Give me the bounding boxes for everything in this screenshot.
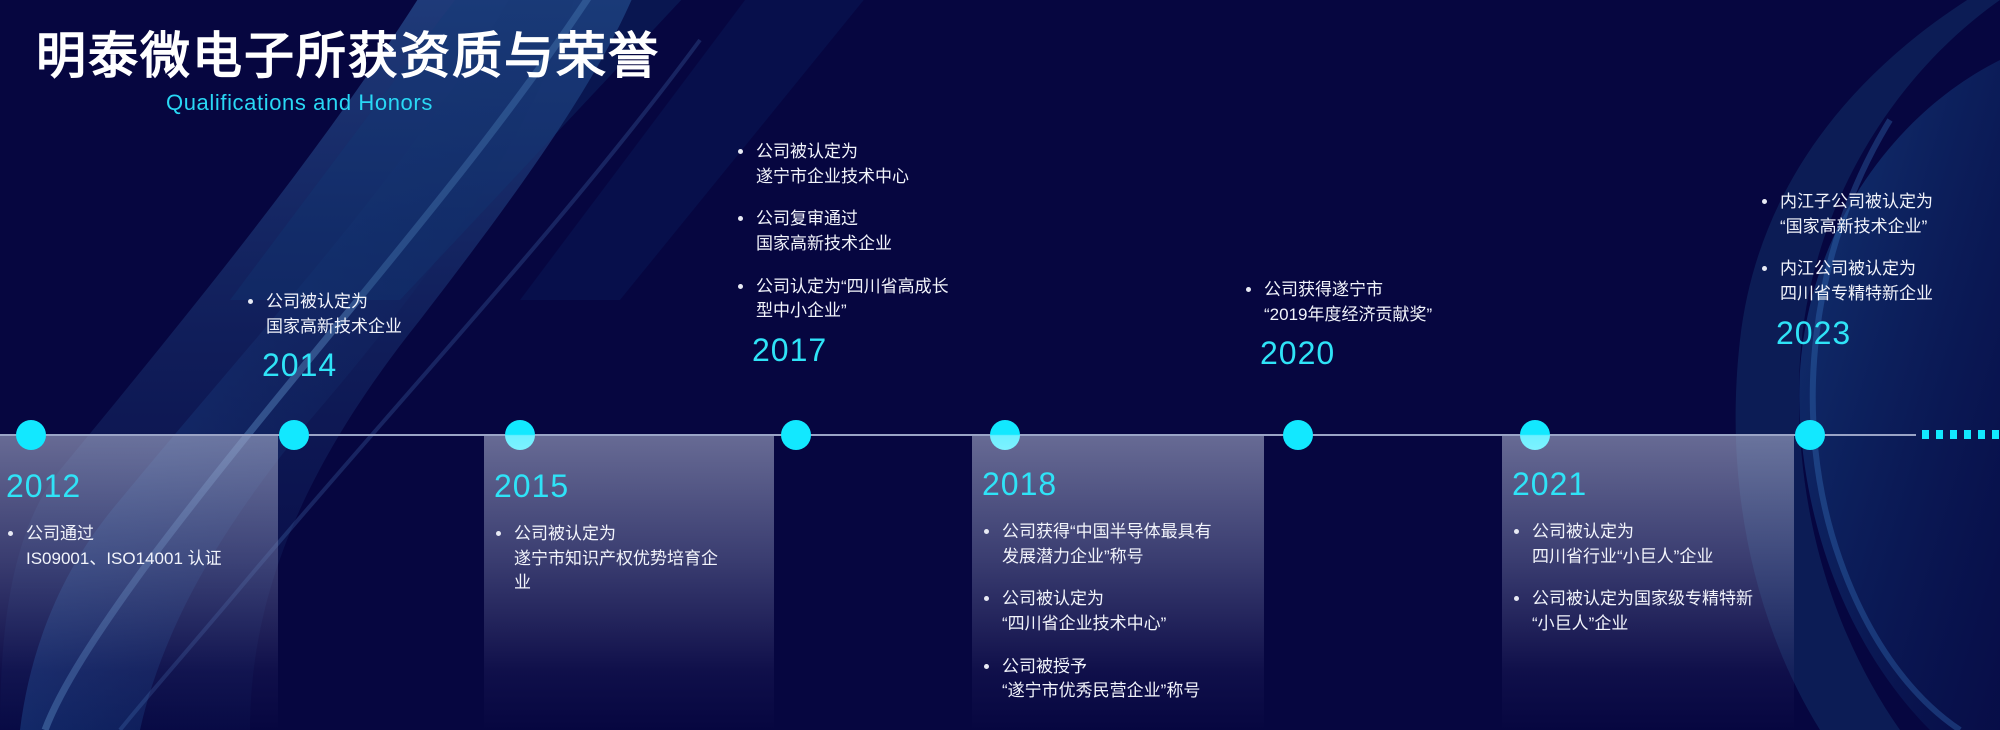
bullet-list-2014: 公司被认定为 国家高新技术企业 <box>246 290 546 339</box>
year-label-2017: 2017 <box>752 334 1056 366</box>
list-item: 公司被认定为 国家高新技术企业 <box>246 290 546 339</box>
list-item: 公司被认定为 “四川省企业技术中心” <box>982 587 1282 636</box>
year-label-2015: 2015 <box>494 470 784 502</box>
timeline-dot-2015[interactable] <box>505 420 535 450</box>
bullet-list-2012: 公司通过 IS09001、ISO14001 认证 <box>6 522 296 571</box>
timeline-entry-2015[interactable]: 2015 公司被认定为 遂宁市知识产权优势培育企 业 <box>494 470 784 596</box>
header: 明泰微电子所获资质与荣誉 Qualifications and Honors <box>36 28 660 116</box>
year-label-2023: 2023 <box>1776 317 2000 349</box>
bullet-list-2015: 公司被认定为 遂宁市知识产权优势培育企 业 <box>494 522 784 596</box>
timeline-entry-2018[interactable]: 2018 公司获得“中国半导体最具有 发展潜力企业”称号 公司被认定为 “四川省… <box>982 468 1282 704</box>
timeline-dot-2020[interactable] <box>1283 420 1313 450</box>
bullet-list-2020: 公司获得遂宁市 “2019年度经济贡献奖” <box>1244 278 1554 327</box>
list-item: 公司认定为“四川省高成长 型中小企业” <box>736 275 1056 324</box>
year-label-2021: 2021 <box>1512 468 1822 500</box>
timeline-entry-2014[interactable]: 公司被认定为 国家高新技术企业 2014 <box>246 290 546 381</box>
timeline-dot-2018[interactable] <box>990 420 1020 450</box>
bullet-list-2023: 内江子公司被认定为 “国家高新技术企业” 内江公司被认定为 四川省专精特新企业 <box>1760 190 2000 307</box>
bullet-list-2017: 公司被认定为 遂宁市企业技术中心 公司复审通过 国家高新技术企业 公司认定为“四… <box>736 140 1056 324</box>
year-label-2012: 2012 <box>6 470 296 502</box>
timeline-entry-2021[interactable]: 2021 公司被认定为 四川省行业“小巨人”企业 公司被认定为国家级专精特新 “… <box>1512 468 1822 637</box>
list-item: 公司被认定为 四川省行业“小巨人”企业 <box>1512 520 1822 569</box>
list-item: 公司被认定为国家级专精特新 “小巨人”企业 <box>1512 587 1822 636</box>
timeline-dot-2021[interactable] <box>1520 420 1550 450</box>
list-item: 公司被认定为 遂宁市知识产权优势培育企 业 <box>494 522 784 596</box>
bullet-list-2021: 公司被认定为 四川省行业“小巨人”企业 公司被认定为国家级专精特新 “小巨人”企… <box>1512 520 1822 637</box>
list-item: 内江公司被认定为 四川省专精特新企业 <box>1760 257 2000 306</box>
timeline-entry-2020[interactable]: 公司获得遂宁市 “2019年度经济贡献奖” 2020 <box>1244 278 1554 369</box>
list-item: 公司获得遂宁市 “2019年度经济贡献奖” <box>1244 278 1554 327</box>
list-item: 公司通过 IS09001、ISO14001 认证 <box>6 522 296 571</box>
bullet-list-2018: 公司获得“中国半导体最具有 发展潜力企业”称号 公司被认定为 “四川省企业技术中… <box>982 520 1282 704</box>
year-label-2018: 2018 <box>982 468 1282 500</box>
list-item: 公司被认定为 遂宁市企业技术中心 <box>736 140 1056 189</box>
timeline-entry-2023[interactable]: 内江子公司被认定为 “国家高新技术企业” 内江公司被认定为 四川省专精特新企业 … <box>1760 190 2000 349</box>
timeline-dot-2017[interactable] <box>781 420 811 450</box>
timeline-entry-2012[interactable]: 2012 公司通过 IS09001、ISO14001 认证 <box>6 470 296 571</box>
timeline-dot-2014[interactable] <box>279 420 309 450</box>
timeline-entry-2017[interactable]: 公司被认定为 遂宁市企业技术中心 公司复审通过 国家高新技术企业 公司认定为“四… <box>736 140 1056 366</box>
page-subtitle: Qualifications and Honors <box>166 90 660 116</box>
timeline-dot-2023[interactable] <box>1795 420 1825 450</box>
slide-stage: 明泰微电子所获资质与荣誉 Qualifications and Honors 2… <box>0 0 2000 730</box>
list-item: 公司复审通过 国家高新技术企业 <box>736 207 1056 256</box>
list-item: 公司获得“中国半导体最具有 发展潜力企业”称号 <box>982 520 1282 569</box>
year-label-2014: 2014 <box>262 349 546 381</box>
list-item: 内江子公司被认定为 “国家高新技术企业” <box>1760 190 2000 239</box>
timeline-axis-end-dashes <box>1922 430 1999 439</box>
list-item: 公司被授予 “遂宁市优秀民营企业”称号 <box>982 655 1282 704</box>
year-label-2020: 2020 <box>1260 337 1554 369</box>
page-title: 明泰微电子所获资质与荣誉 <box>36 28 660 84</box>
timeline-dot-2012[interactable] <box>16 420 46 450</box>
